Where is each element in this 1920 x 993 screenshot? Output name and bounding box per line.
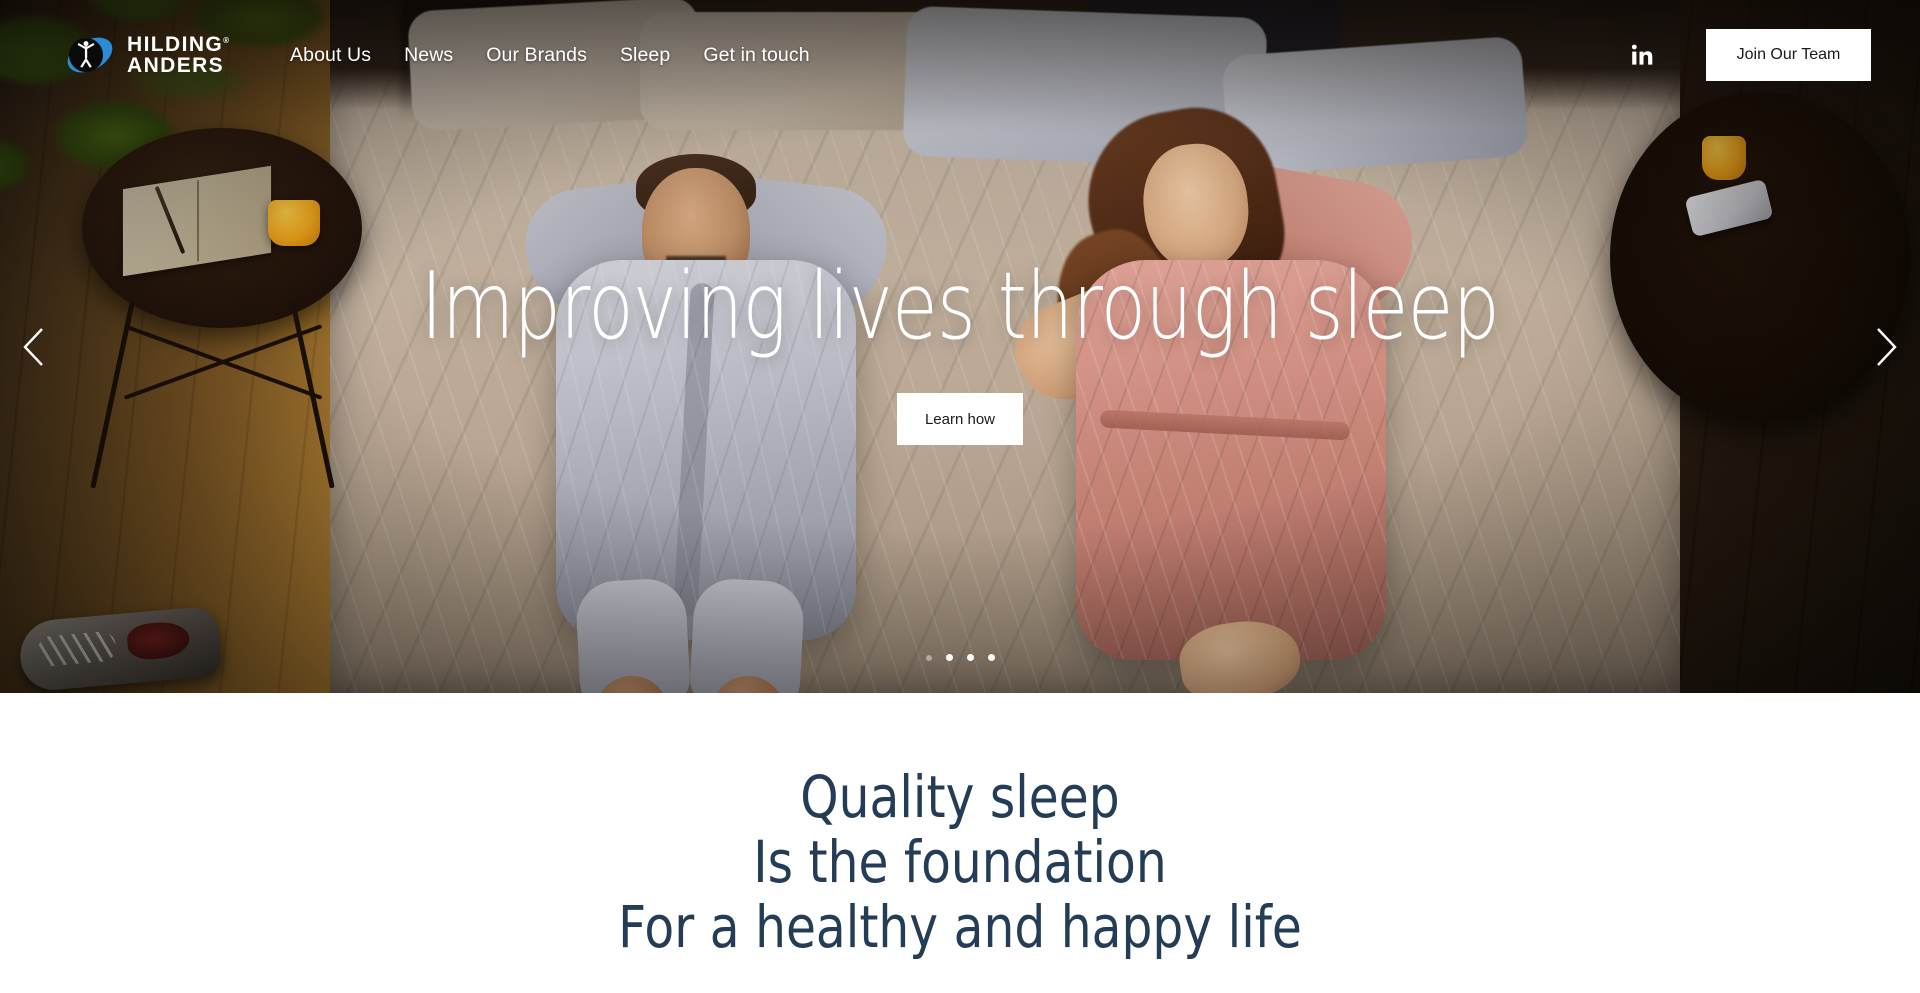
carousel-prev-button[interactable]: [6, 319, 62, 375]
section-heading-line-2: Is the foundation: [618, 830, 1302, 895]
main-navigation: About Us News Our Brands Sleep Get in to…: [290, 44, 810, 67]
quality-sleep-section: Quality sleep Is the foundation For a he…: [0, 693, 1920, 993]
carousel-next-button[interactable]: [1858, 319, 1914, 375]
hilding-anders-figure-logo: [62, 29, 114, 81]
section-heading-line-3: For a healthy and happy life: [618, 895, 1302, 960]
nav-item-sleep[interactable]: Sleep: [620, 44, 670, 67]
carousel-dot[interactable]: [988, 654, 995, 661]
header-actions: Join Our Team: [1628, 29, 1920, 81]
registered-mark: ®: [223, 36, 229, 45]
nav-item-news[interactable]: News: [404, 44, 453, 67]
logo[interactable]: HILDING® ANDERS: [62, 29, 229, 81]
nav-item-get-in-touch[interactable]: Get in touch: [703, 44, 809, 67]
nav-item-our-brands[interactable]: Our Brands: [486, 44, 587, 67]
linkedin-in-icon[interactable]: [1628, 42, 1654, 68]
section-heading-line-1: Quality sleep: [618, 765, 1302, 830]
learn-how-button[interactable]: Learn how: [897, 393, 1023, 445]
logo-line-2: ANDERS: [127, 55, 229, 76]
carousel-dot[interactable]: [946, 654, 953, 661]
logo-line-1: HILDING: [127, 33, 223, 56]
carousel-dot[interactable]: [967, 654, 974, 661]
site-header: HILDING® ANDERS About Us News Our Brands…: [0, 0, 1920, 110]
logo-wordmark: HILDING® ANDERS: [127, 34, 229, 76]
section-heading: Quality sleep Is the foundation For a he…: [618, 765, 1302, 960]
join-our-team-button[interactable]: Join Our Team: [1706, 29, 1871, 81]
carousel-dot[interactable]: [926, 655, 932, 661]
hero-carousel: HILDING® ANDERS About Us News Our Brands…: [0, 0, 1920, 693]
carousel-dots: [0, 654, 1920, 661]
nav-item-about-us[interactable]: About Us: [290, 44, 371, 67]
